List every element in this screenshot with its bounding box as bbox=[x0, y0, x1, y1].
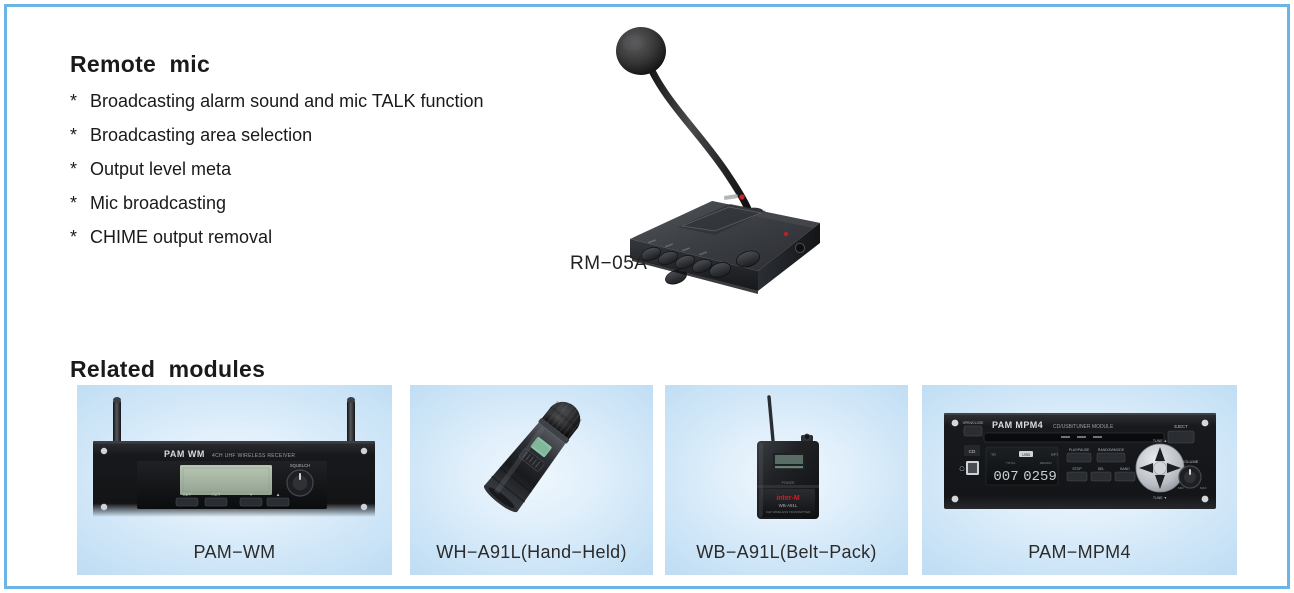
svg-text:EJECT: EJECT bbox=[1174, 424, 1188, 429]
svg-text:POWER: POWER bbox=[782, 481, 795, 485]
bullet-asterisk-icon: * bbox=[70, 160, 90, 178]
list-item: * Broadcasting alarm sound and mic TALK … bbox=[70, 91, 484, 125]
pam-wm-photo: PAM WM 4CH UHF WIRELESS RECEIVER SET ACT bbox=[77, 385, 392, 535]
svg-text:PAM WM: PAM WM bbox=[164, 449, 205, 459]
svg-text:RPT: RPT bbox=[1051, 453, 1059, 457]
content-frame: Remote mic * Broadcasting alarm sound an… bbox=[4, 4, 1290, 589]
svg-text:MIN: MIN bbox=[1178, 486, 1184, 490]
svg-text:4CH UHF WIRELESS RECEIVER: 4CH UHF WIRELESS RECEIVER bbox=[212, 453, 295, 459]
product-figure-rm05a: RM−05A bbox=[552, 15, 852, 300]
svg-text:VOLUME: VOLUME bbox=[1182, 459, 1199, 464]
svg-text:SET: SET bbox=[183, 492, 192, 497]
mpm4-track-number: 007 bbox=[993, 469, 1018, 485]
feature-text: Mic broadcasting bbox=[90, 193, 226, 214]
module-caption: PAM−WM bbox=[77, 542, 392, 563]
module-tile-pam-wm[interactable]: PAM WM 4CH UHF WIRELESS RECEIVER SET ACT bbox=[77, 385, 392, 575]
bullet-asterisk-icon: * bbox=[70, 194, 90, 212]
svg-text:TR: TR bbox=[991, 453, 996, 457]
svg-text:TOTAL: TOTAL bbox=[1006, 461, 1016, 465]
svg-text:SQUELCH: SQUELCH bbox=[290, 463, 310, 468]
feature-list: * Broadcasting alarm sound and mic TALK … bbox=[70, 91, 484, 261]
svg-text:OPEN/CLOSE: OPEN/CLOSE bbox=[963, 421, 984, 425]
svg-text:MAX: MAX bbox=[1200, 486, 1207, 490]
svg-text:RANDOM/MODE: RANDOM/MODE bbox=[1098, 448, 1125, 452]
feature-text: Broadcasting alarm sound and mic TALK fu… bbox=[90, 91, 484, 112]
svg-text:PAM MPM4: PAM MPM4 bbox=[992, 420, 1043, 430]
svg-text:PLAY/PAUSE: PLAY/PAUSE bbox=[1069, 448, 1090, 452]
feature-text: Output level meta bbox=[90, 159, 231, 180]
wb-a91l-photo: POWER inter-M WB-A91L UHF WIRELESS TRANS… bbox=[665, 385, 908, 535]
svg-text:⎔: ⎔ bbox=[959, 466, 965, 473]
page-title-related-modules: Related modules bbox=[70, 356, 265, 383]
svg-text:BAND: BAND bbox=[1120, 467, 1130, 471]
mpm4-time: 0259 bbox=[1023, 469, 1057, 485]
svg-text:▼: ▼ bbox=[249, 492, 253, 497]
svg-text:WB-A91L: WB-A91L bbox=[779, 503, 798, 508]
list-item: * Output level meta bbox=[70, 159, 484, 193]
svg-text:TUNE ▼: TUNE ▼ bbox=[1153, 496, 1167, 500]
module-tile-wh-a91l[interactable]: WH−A91L(Hand−Held) bbox=[410, 385, 653, 575]
svg-text:STOP: STOP bbox=[1072, 467, 1082, 471]
list-item: * CHIME output removal bbox=[70, 227, 484, 261]
related-modules-grid: PAM WM 4CH UHF WIRELESS RECEIVER SET ACT bbox=[77, 385, 1237, 575]
svg-text:DEL: DEL bbox=[1098, 467, 1105, 471]
inter-m-logo: inter-M bbox=[776, 495, 800, 502]
bullet-asterisk-icon: * bbox=[70, 92, 90, 110]
feature-text: CHIME output removal bbox=[90, 227, 272, 248]
svg-text:▲: ▲ bbox=[276, 492, 280, 497]
list-item: * Broadcasting area selection bbox=[70, 125, 484, 159]
module-caption: PAM−MPM4 bbox=[922, 542, 1237, 563]
module-tile-wb-a91l[interactable]: POWER inter-M WB-A91L UHF WIRELESS TRANS… bbox=[665, 385, 908, 575]
svg-text:CD/USB/TUNER MODULE: CD/USB/TUNER MODULE bbox=[1053, 424, 1114, 430]
module-caption: WB−A91L(Belt−Pack) bbox=[665, 542, 908, 563]
svg-text:REMAIN: REMAIN bbox=[1040, 461, 1052, 465]
feature-text: Broadcasting area selection bbox=[90, 125, 312, 146]
svg-text:CD: CD bbox=[969, 449, 976, 454]
product-caption-rm05a: RM−05A bbox=[570, 253, 647, 275]
bullet-asterisk-icon: * bbox=[70, 228, 90, 246]
page-title-remote-mic: Remote mic bbox=[70, 51, 210, 78]
list-item: * Mic broadcasting bbox=[70, 193, 484, 227]
svg-text:USB: USB bbox=[1022, 453, 1030, 457]
wh-a91l-photo bbox=[410, 385, 653, 535]
bullet-asterisk-icon: * bbox=[70, 126, 90, 144]
svg-text:TUNE ▲: TUNE ▲ bbox=[1153, 439, 1167, 443]
module-caption: WH−A91L(Hand−Held) bbox=[410, 542, 653, 563]
svg-text:UHF WIRELESS TRANSMITTER: UHF WIRELESS TRANSMITTER bbox=[766, 510, 811, 514]
module-tile-pam-mpm4[interactable]: PAM MPM4 CD/USB/TUNER MODULE EJECT OPEN/… bbox=[922, 385, 1237, 575]
svg-text:ACT: ACT bbox=[212, 492, 221, 497]
pam-mpm4-photo: PAM MPM4 CD/USB/TUNER MODULE EJECT OPEN/… bbox=[922, 385, 1237, 535]
